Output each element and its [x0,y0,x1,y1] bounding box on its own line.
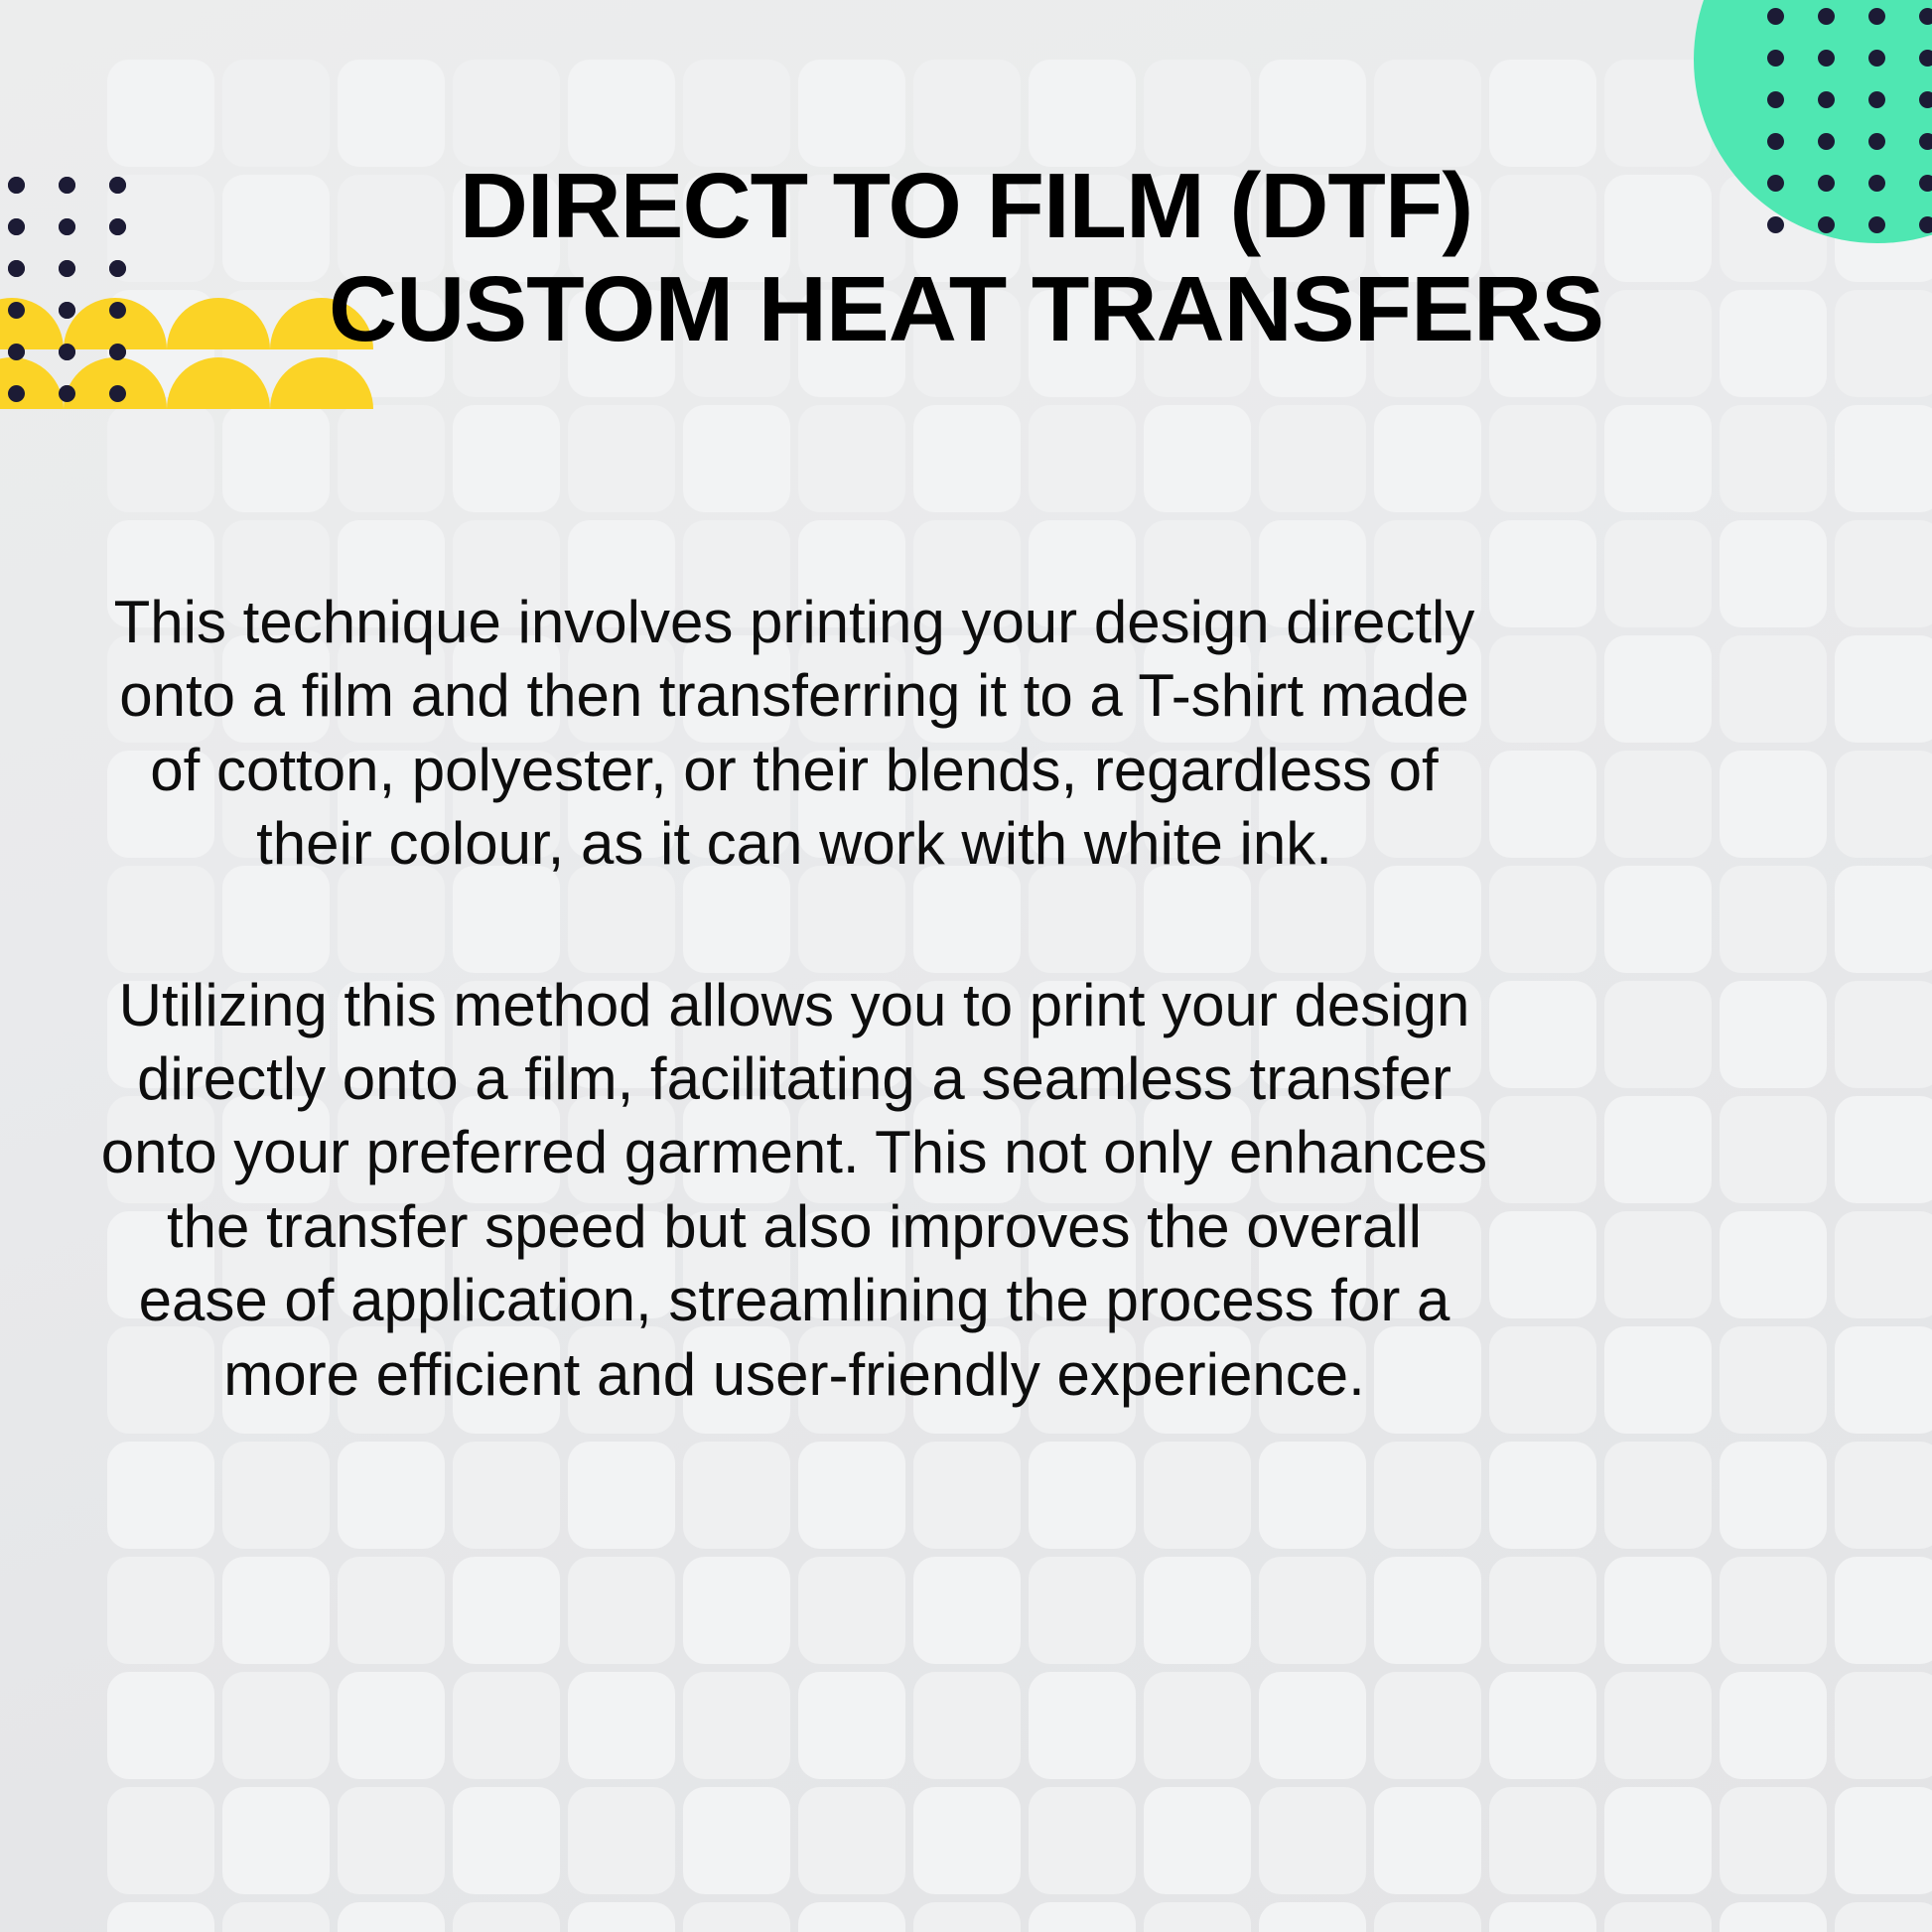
paragraph-1: This technique involves printing your de… [99,586,1489,882]
content-area: DIRECT TO FILM (DTF) CUSTOM HEAT TRANSFE… [0,0,1932,1932]
poster-canvas: DIRECT TO FILM (DTF) CUSTOM HEAT TRANSFE… [0,0,1932,1932]
body-copy: This technique involves printing your de… [99,586,1489,1412]
title-line-1: DIRECT TO FILM (DTF) [135,154,1798,257]
title-line-2: CUSTOM HEAT TRANSFERS [135,257,1798,360]
paragraph-2: Utilizing this method allows you to prin… [99,969,1489,1412]
page-title: DIRECT TO FILM (DTF) CUSTOM HEAT TRANSFE… [135,154,1798,360]
